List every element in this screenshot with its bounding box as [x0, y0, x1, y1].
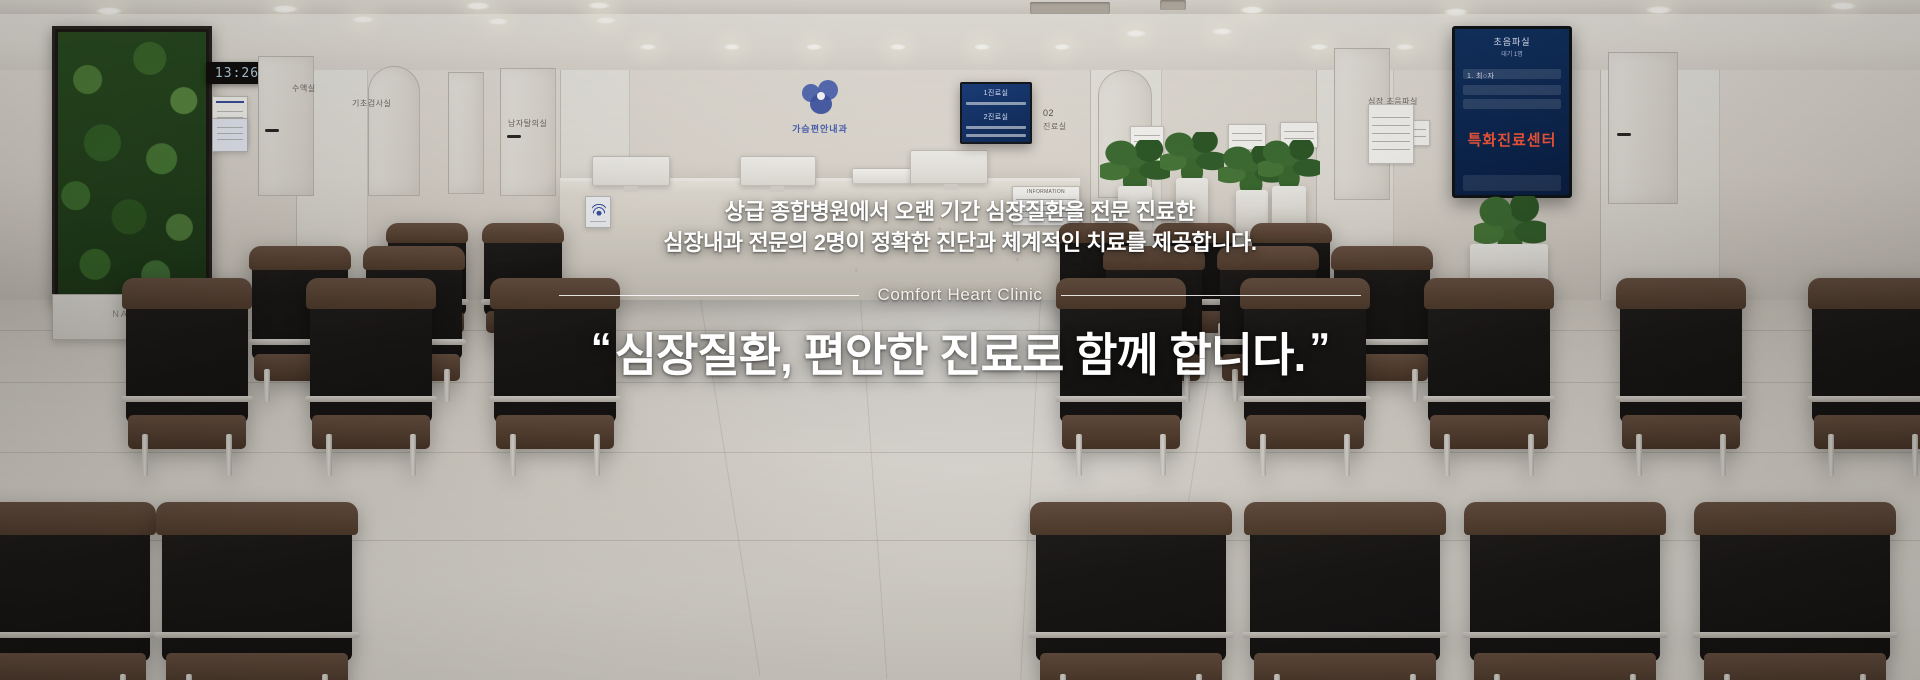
ceiling-light — [1646, 6, 1672, 14]
clock-time: 13:26 — [215, 66, 259, 81]
hero-banner: NAAVA 13:26 — [0, 0, 1920, 680]
waiting-chair — [0, 510, 150, 680]
divider-line-right — [1061, 295, 1361, 296]
ceiling-light — [272, 5, 298, 13]
ceiling-light — [1212, 28, 1232, 35]
ceiling-light — [588, 2, 610, 9]
queue-room-1: 1진료실 — [962, 88, 1030, 98]
monitor-stand — [770, 186, 784, 192]
room-label: 남자탈의실 — [508, 118, 547, 129]
ceiling-light — [890, 44, 906, 50]
waiting-chair — [1700, 510, 1890, 680]
ceiling-light — [1830, 2, 1856, 10]
heart-cloud-logo-icon — [798, 78, 842, 118]
clinic-brand-name: Comfort Heart Clinic — [877, 285, 1042, 305]
ceiling-light — [352, 16, 374, 23]
ultrasound-wait-count: 대기 1명 — [1455, 49, 1569, 58]
ceiling-light — [596, 17, 616, 24]
waiting-chair — [1470, 510, 1660, 680]
waiting-chair — [1250, 510, 1440, 680]
room-label: 진료실 — [1043, 121, 1067, 132]
door — [500, 68, 556, 196]
ceiling-light — [1310, 44, 1328, 50]
wall-notice — [1368, 104, 1414, 164]
quote-close-mark: ” — [1309, 324, 1329, 371]
ceiling-light — [724, 44, 740, 50]
hero-lead-text: 상급 종합병원에서 오랜 기간 심장질환을 전문 진료한 심장내과 전문의 2명… — [0, 196, 1920, 258]
potted-plant-foliage — [1160, 132, 1224, 182]
hero-copy: 상급 종합병원에서 오랜 기간 심장질환을 전문 진료한 심장내과 전문의 2명… — [0, 196, 1920, 383]
door — [368, 66, 420, 196]
desk-monitor — [740, 156, 816, 186]
ceiling-light — [1126, 30, 1146, 37]
queue-display: 1진료실 2진료실 — [960, 82, 1032, 144]
ceiling-light — [1240, 6, 1264, 14]
queue-room-2: 2진료실 — [962, 112, 1030, 122]
clinic-logo-text: 가슴편안내과 — [760, 122, 880, 135]
clinic-logo-sign: 가슴편안내과 — [760, 78, 880, 158]
ceiling-vent — [1030, 2, 1110, 14]
ceiling-light — [640, 44, 656, 50]
monitor-stand — [624, 186, 638, 192]
hero-headline-text: 심장질환, 편안한 진료로 함께 합니다. — [615, 329, 1305, 381]
desk-printer — [852, 168, 912, 184]
hero-headline: “심장질환, 편안한 진료로 함께 합니다.” — [0, 327, 1920, 383]
hero-lead-line-1: 상급 종합병원에서 오랜 기간 심장질환을 전문 진료한 — [0, 196, 1920, 227]
room-label: 기초검사실 — [352, 98, 391, 109]
ceiling-light — [1054, 44, 1070, 50]
room-label: 수액실 — [292, 83, 316, 94]
door — [448, 72, 484, 194]
information-label: INFORMATION — [1013, 189, 1079, 195]
ceiling-light — [806, 44, 822, 50]
desk-monitor — [910, 150, 988, 184]
wall-poster — [212, 118, 248, 152]
ceiling-light — [466, 2, 490, 10]
ultrasound-room-title: 초음파실 — [1455, 35, 1569, 48]
door — [1608, 52, 1678, 204]
brand-divider-row: Comfort Heart Clinic — [0, 285, 1920, 305]
ultrasound-queue-row: 1. 최○자 — [1467, 71, 1569, 81]
ceiling-light — [1444, 8, 1468, 16]
ceiling-light — [96, 7, 122, 15]
waiting-chair — [162, 510, 352, 680]
monitor-stand — [944, 184, 958, 190]
ceiling-light — [488, 18, 508, 25]
room-number: 02 — [1043, 108, 1054, 118]
door — [258, 56, 314, 196]
ultrasound-banner-text: 특화진료센터 — [1455, 129, 1569, 150]
potted-plant-foliage — [1258, 140, 1320, 188]
ceiling-light — [974, 44, 990, 50]
desk-monitor — [592, 156, 670, 186]
ceiling-light — [1396, 44, 1414, 50]
quote-open-mark: “ — [591, 324, 611, 371]
hero-lead-line-2: 심장내과 전문의 2명이 정확한 진단과 체계적인 치료를 제공합니다. — [0, 227, 1920, 258]
waiting-chair — [1036, 510, 1226, 680]
divider-line-left — [559, 295, 859, 296]
ultrasound-room-display: 초음파실 대기 1명 1. 최○자 특화진료센터 — [1452, 26, 1572, 198]
ceiling-vent — [1160, 0, 1186, 10]
